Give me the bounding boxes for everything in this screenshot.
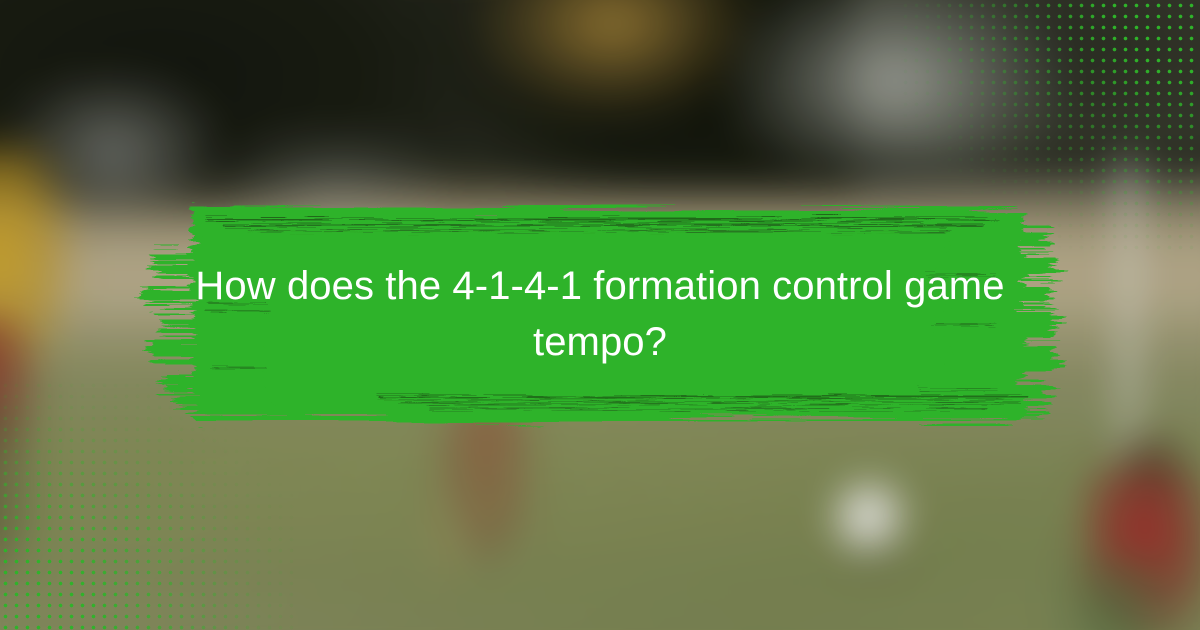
social-share-card: How does the 4-1-4-1 formation control g… [0, 0, 1200, 630]
headline-text: How does the 4-1-4-1 formation control g… [150, 258, 1050, 370]
